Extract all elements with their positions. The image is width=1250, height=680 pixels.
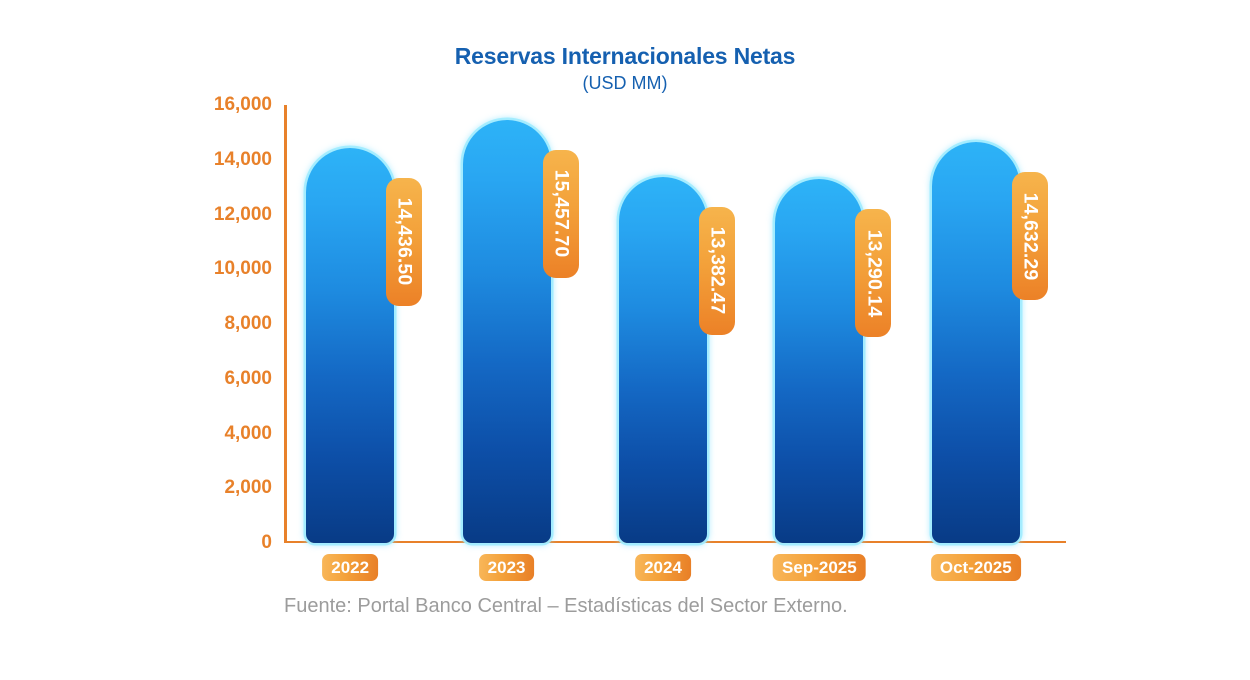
bar-group xyxy=(463,105,551,543)
bar[interactable] xyxy=(775,179,863,543)
bar-group xyxy=(932,105,1020,543)
x-axis-category-pill: 2022 xyxy=(322,554,378,581)
bar-series: 14,436.5015,457.7013,382.4713,290.1414,6… xyxy=(284,105,1066,543)
x-axis-category-pill: 2024 xyxy=(635,554,691,581)
y-axis-tick-labels: 02,0004,0006,0008,00010,00012,00014,0001… xyxy=(184,105,272,543)
y-axis-tick-label: 0 xyxy=(184,532,272,554)
bar[interactable] xyxy=(619,177,707,543)
bar-value-label: 13,382.47 xyxy=(699,207,735,335)
y-axis-tick-label: 10,000 xyxy=(184,258,272,280)
bar-group xyxy=(306,105,394,543)
bar-value-label: 15,457.70 xyxy=(543,150,579,278)
y-axis-tick-label: 16,000 xyxy=(184,94,272,116)
y-axis-tick-label: 8,000 xyxy=(184,313,272,335)
bar[interactable] xyxy=(463,120,551,543)
bar-group xyxy=(619,105,707,543)
source-note: Fuente: Portal Banco Central – Estadísti… xyxy=(284,595,1144,618)
chart-slide: Reservas Internacionales Netas (USD MM) … xyxy=(0,0,1250,680)
bar-value-text: 14,632.29 xyxy=(1018,193,1041,281)
x-axis-category-pill: Oct-2025 xyxy=(931,554,1021,581)
title-block: Reservas Internacionales Netas (USD MM) xyxy=(0,42,1250,95)
bar-value-text: 13,290.14 xyxy=(862,229,885,317)
y-axis-tick-label: 6,000 xyxy=(184,368,272,390)
y-axis-tick-label: 12,000 xyxy=(184,204,272,226)
y-axis-tick-label: 2,000 xyxy=(184,477,272,499)
bar-value-label: 13,290.14 xyxy=(855,209,891,337)
x-axis-category-pill: 2023 xyxy=(479,554,535,581)
y-axis-tick-label: 4,000 xyxy=(184,423,272,445)
bar-value-text: 15,457.70 xyxy=(549,170,572,258)
bar[interactable] xyxy=(932,142,1020,543)
bar-value-label: 14,436.50 xyxy=(386,178,422,306)
bar-group xyxy=(775,105,863,543)
x-axis-category-labels: 202220232024Sep-2025Oct-2025 xyxy=(284,554,1066,582)
bar[interactable] xyxy=(306,148,394,543)
y-axis-tick-label: 14,000 xyxy=(184,149,272,171)
bar-value-label: 14,632.29 xyxy=(1012,172,1048,300)
bar-value-text: 14,436.50 xyxy=(393,198,416,286)
page-title: Reservas Internacionales Netas xyxy=(0,42,1250,70)
x-axis-category-pill: Sep-2025 xyxy=(773,554,866,581)
bar-value-text: 13,382.47 xyxy=(706,227,729,315)
chart-subtitle: (USD MM) xyxy=(0,71,1250,95)
